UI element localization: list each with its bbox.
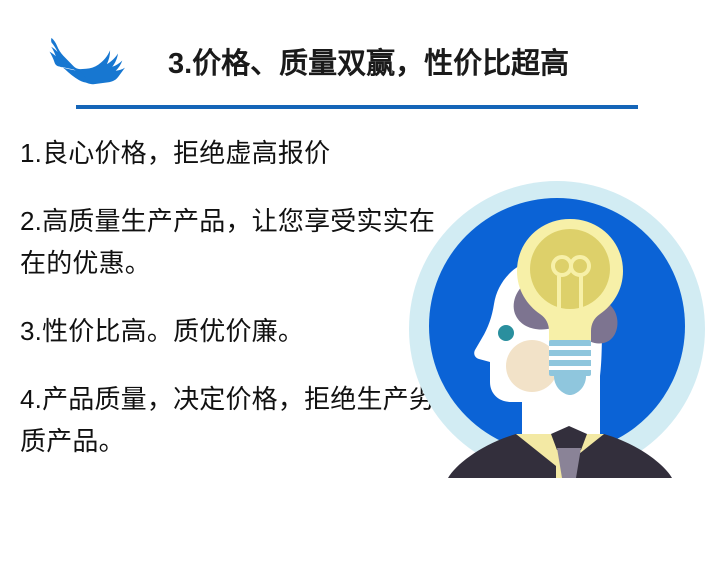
slide-header: 3.价格、质量双赢，性价比超高 [0, 0, 710, 118]
eye-dot [498, 325, 514, 341]
list-item: 2.高质量生产产品，让您享受实实在在的优惠。 [20, 200, 440, 284]
thinking-head-lightbulb-illustration [404, 176, 710, 482]
page-title: 3.价格、质量双赢，性价比超高 [168, 44, 688, 84]
slide-canvas: 3.价格、质量双赢，性价比超高 1.良心价格，拒绝虚高报价 2.高质量生产产品，… [0, 0, 710, 567]
list-item: 4.产品质量，决定价格，拒绝生产劣质产品。 [20, 378, 440, 462]
flying-bird-icon [39, 36, 127, 92]
list-item: 3.性价比高。质优价廉。 [20, 310, 440, 352]
body-bullet-list: 1.良心价格，拒绝虚高报价 2.高质量生产产品，让您享受实实在在的优惠。 3.性… [20, 132, 440, 462]
title-divider [76, 105, 638, 109]
list-item: 1.良心价格，拒绝虚高报价 [20, 132, 440, 174]
